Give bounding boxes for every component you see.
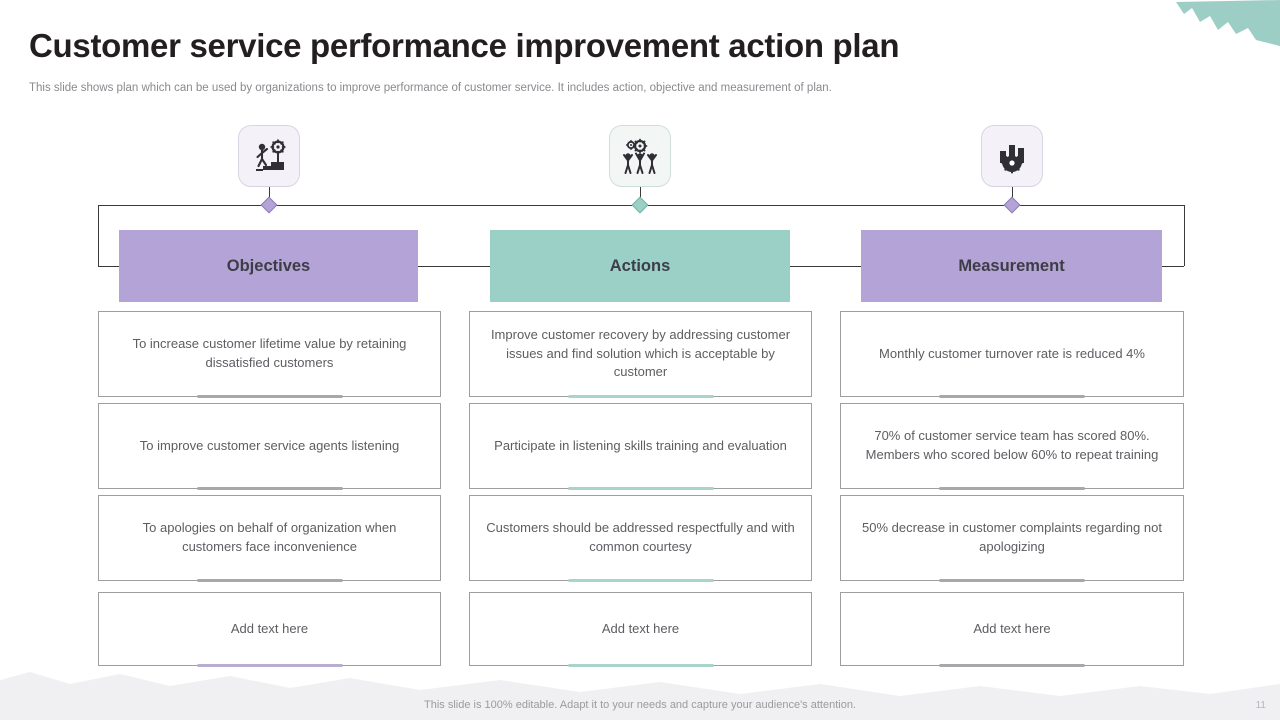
teal-brushstroke-decoration-icon: [1170, 0, 1280, 46]
column-header-label: Objectives: [227, 257, 310, 276]
team-holding-gears-icon: [620, 138, 660, 174]
card-accent-bar: [197, 395, 342, 398]
card-text: 50% decrease in customer complaints rega…: [855, 519, 1169, 557]
card-accent-bar: [568, 395, 713, 398]
card-accent-bar: [197, 664, 342, 667]
card-measurement-4[interactable]: Add text here: [840, 592, 1184, 666]
connector-link-1: [418, 266, 490, 267]
card-objectives-2[interactable]: To improve customer service agents liste…: [98, 403, 441, 489]
icon-badge-objectives: [238, 125, 300, 187]
connector-diamond-actions: [632, 197, 649, 214]
card-text: 70% of customer service team has scored …: [855, 427, 1169, 465]
column-header-label: Actions: [610, 257, 671, 276]
card-text: Participate in listening skills training…: [494, 437, 787, 456]
card-text: Add text here: [602, 620, 679, 639]
card-objectives-4[interactable]: Add text here: [98, 592, 441, 666]
card-accent-bar: [568, 579, 713, 582]
card-accent-bar: [940, 395, 1085, 398]
card-accent-bar: [940, 487, 1085, 490]
column-header-actions[interactable]: Actions: [490, 230, 790, 302]
icon-badge-actions: [609, 125, 671, 187]
card-accent-bar: [940, 579, 1085, 582]
slide-canvas: Customer service performance improvement…: [0, 0, 1280, 720]
connector-left-drop: [98, 205, 99, 266]
card-accent-bar: [197, 579, 342, 582]
connector-link-2: [790, 266, 862, 267]
column-header-measurement[interactable]: Measurement: [861, 230, 1162, 302]
light-brushstroke-decoration-icon: [0, 662, 1280, 720]
card-measurement-3[interactable]: 50% decrease in customer complaints rega…: [840, 495, 1184, 581]
card-measurement-1[interactable]: Monthly customer turnover rate is reduce…: [840, 311, 1184, 397]
card-actions-3[interactable]: Customers should be addressed respectful…: [469, 495, 812, 581]
card-text: Monthly customer turnover rate is reduce…: [879, 345, 1145, 364]
connector-diamond-objectives: [261, 197, 278, 214]
card-measurement-2[interactable]: 70% of customer service team has scored …: [840, 403, 1184, 489]
card-objectives-1[interactable]: To increase customer lifetime value by r…: [98, 311, 441, 397]
column-header-label: Measurement: [958, 257, 1064, 276]
card-text: Improve customer recovery by addressing …: [484, 326, 797, 383]
editable-footer-note: This slide is 100% editable. Adapt it to…: [0, 699, 1280, 711]
card-text: To improve customer service agents liste…: [140, 437, 399, 456]
card-accent-bar: [197, 487, 342, 490]
card-text: Add text here: [231, 620, 308, 639]
column-header-objectives[interactable]: Objectives: [119, 230, 418, 302]
card-accent-bar: [568, 487, 713, 490]
connector-right-drop: [1184, 205, 1185, 266]
card-text: Add text here: [973, 620, 1050, 639]
connector-right-stub: [1162, 266, 1184, 267]
card-text: To increase customer lifetime value by r…: [113, 335, 426, 373]
page-title: Customer service performance improvement…: [29, 27, 899, 65]
icon-badge-measurement: [981, 125, 1043, 187]
page-number: 11: [1256, 700, 1266, 711]
person-climbing-stairs-goal-icon: [250, 138, 288, 174]
card-accent-bar: [568, 664, 713, 667]
connector-diamond-measurement: [1004, 197, 1021, 214]
bar-chart-gear-icon: [994, 138, 1030, 174]
card-text: Customers should be addressed respectful…: [484, 519, 797, 557]
card-text: To apologies on behalf of organization w…: [113, 519, 426, 557]
card-objectives-3[interactable]: To apologies on behalf of organization w…: [98, 495, 441, 581]
page-subtitle: This slide shows plan which can be used …: [29, 82, 832, 94]
card-accent-bar: [940, 664, 1085, 667]
connector-left-stub: [98, 266, 120, 267]
card-actions-2[interactable]: Participate in listening skills training…: [469, 403, 812, 489]
card-actions-1[interactable]: Improve customer recovery by addressing …: [469, 311, 812, 397]
card-actions-4[interactable]: Add text here: [469, 592, 812, 666]
